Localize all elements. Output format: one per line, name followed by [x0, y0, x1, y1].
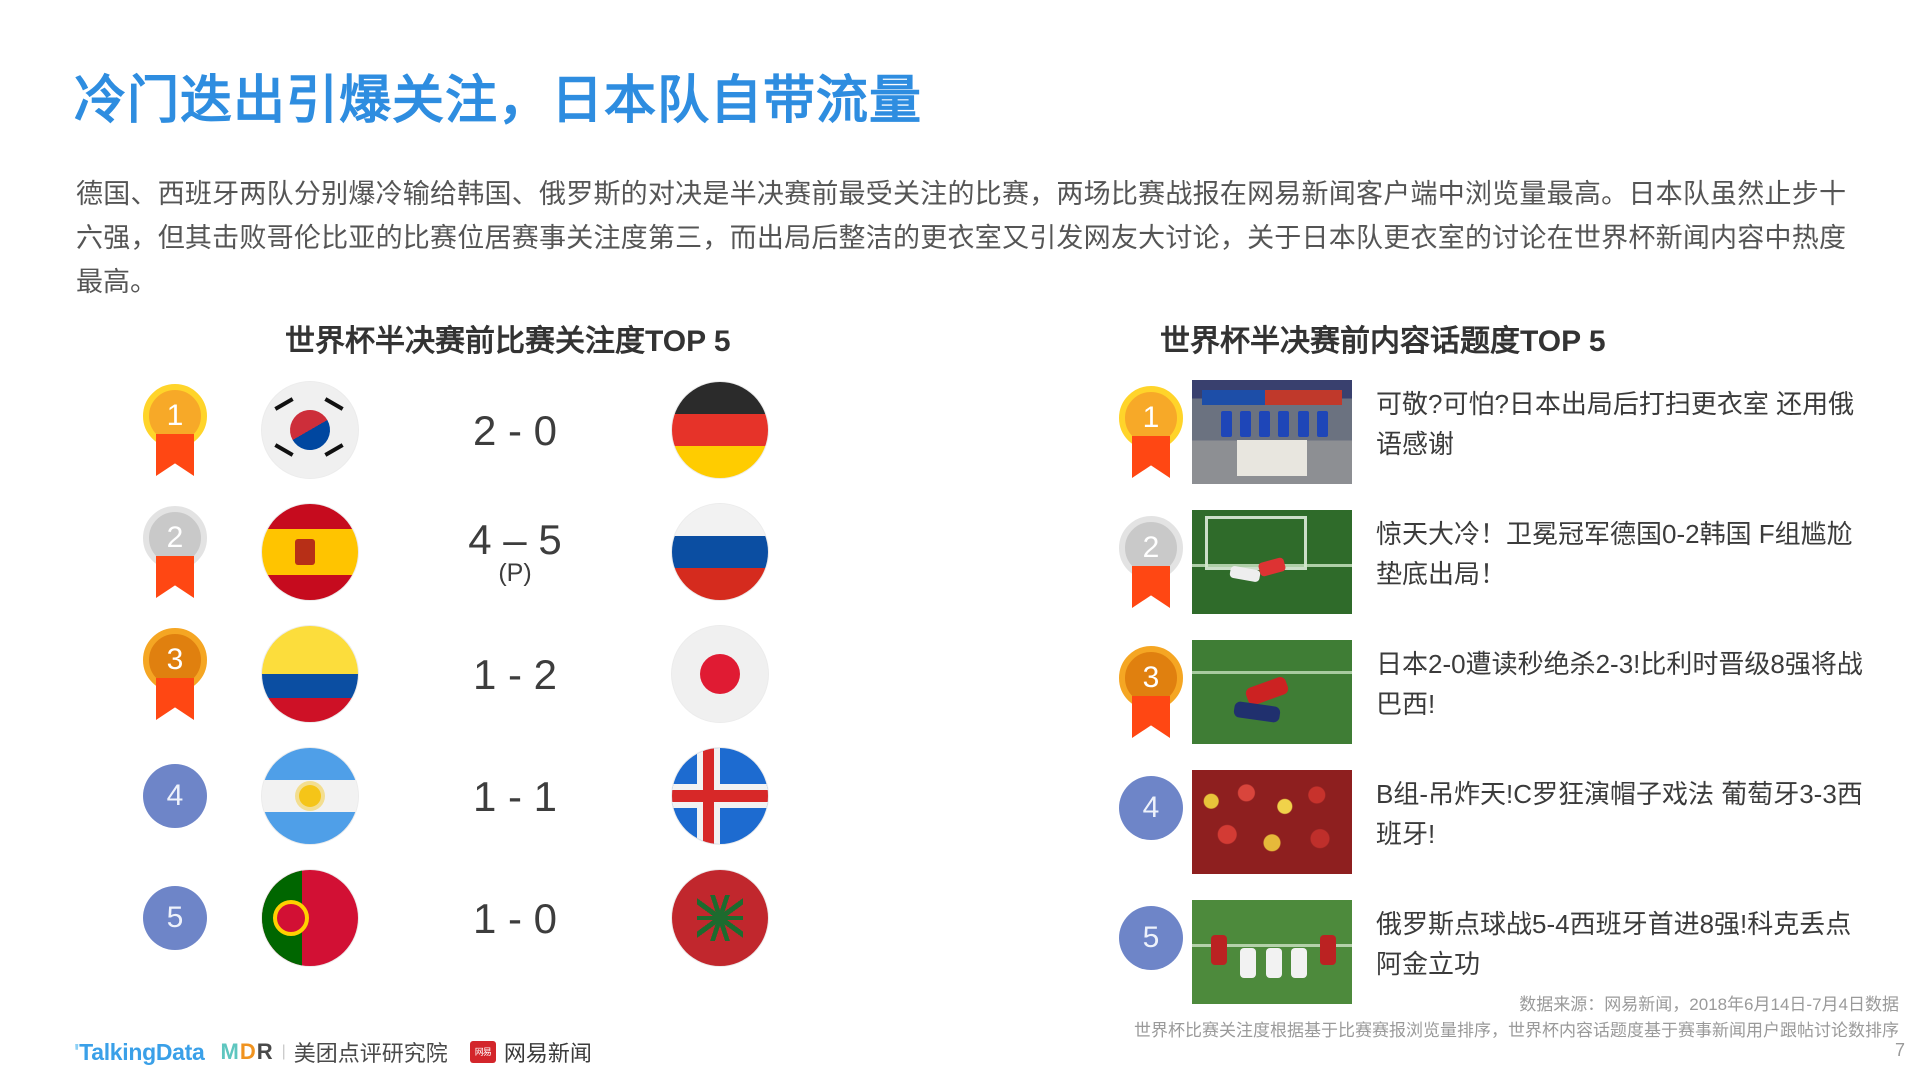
table-row: 2 4 – 5 (P): [120, 502, 920, 602]
logo-mdr: MDR: [221, 1039, 274, 1065]
news-ranking-list: 1 可敬?可怕?日本出局后打扫更衣室 还用俄语感谢 2: [1110, 380, 1900, 1030]
thumbnail-penalty: [1192, 900, 1352, 1004]
netease-mark-icon: 网易: [470, 1041, 496, 1063]
home-flag-cell: [230, 870, 390, 966]
thumbnail-goal-save: [1192, 510, 1352, 614]
flag-icon-korea: [262, 382, 358, 478]
rank-cell: 1: [120, 384, 230, 476]
rank-badge-plain: 4: [1119, 776, 1183, 840]
score-value: 1 - 2: [473, 651, 557, 698]
summary-paragraph: 德国、西班牙两队分别爆冷输给韩国、俄罗斯的对决是半决赛前最受关注的比赛，两场比赛…: [76, 172, 1846, 304]
score-value: 2 - 0: [473, 407, 557, 454]
away-flag-cell: [640, 504, 800, 600]
rank-cell: 2: [1110, 510, 1192, 608]
away-flag-cell: [640, 748, 800, 844]
table-row: 4 1 - 1: [120, 746, 920, 846]
rank-cell: 5: [120, 886, 230, 950]
ribbon-icon: [1132, 696, 1170, 738]
page-number: 7: [1895, 1040, 1905, 1061]
rank-cell: 4: [120, 764, 230, 828]
left-panel-heading: 世界杯半决赛前比赛关注度TOP 5: [285, 316, 731, 360]
medal-badge-bronze: 3: [143, 628, 207, 720]
ribbon-icon: [1132, 566, 1170, 608]
footer-logos: 'TalkingData MDR | 美团点评研究院 网易 网易新闻: [74, 1036, 592, 1068]
medal-badge-silver: 2: [1119, 516, 1183, 608]
right-panel-heading: 世界杯半决赛前内容话题度TOP 5: [1160, 316, 1606, 360]
news-title: 俄罗斯点球战5-4西班牙首进8强!科克丢点阿金立功: [1376, 900, 1876, 984]
logo-talkingdata: 'TalkingData: [74, 1039, 205, 1066]
flag-icon-colombia: [262, 626, 358, 722]
away-flag-cell: [640, 382, 800, 478]
list-item[interactable]: 4 B组-吊炸天!C罗狂演帽子戏法 葡萄牙3-3西班牙!: [1110, 770, 1900, 880]
score-cell: 1 - 2: [390, 653, 640, 695]
score-note: (P): [390, 560, 640, 586]
rank-cell: 3: [120, 628, 230, 720]
rank-badge-plain: 5: [1119, 906, 1183, 970]
rank-badge-plain: 4: [143, 764, 207, 828]
news-title: 日本2-0遭读秒绝杀2-3!比利时晋级8强将战巴西!: [1376, 640, 1876, 724]
medal-badge-bronze: 3: [1119, 646, 1183, 738]
home-flag-cell: [230, 382, 390, 478]
medal-badge-silver: 2: [143, 506, 207, 598]
score-value: 4 – 5: [468, 516, 561, 563]
home-flag-cell: [230, 504, 390, 600]
rank-cell: 4: [1110, 770, 1192, 840]
away-flag-cell: [640, 626, 800, 722]
table-row: 1 2 - 0: [120, 380, 920, 480]
rank-cell: 3: [1110, 640, 1192, 738]
medal-badge-gold: 1: [143, 384, 207, 476]
logo-netease: 网易 网易新闻: [470, 1036, 592, 1068]
flag-icon-morocco: [672, 870, 768, 966]
flag-icon-japan: [672, 626, 768, 722]
news-title: 惊天大冷！卫冕冠军德国0-2韩国 F组尴尬垫底出局！: [1376, 510, 1876, 594]
match-ranking-list: 1 2 - 0: [120, 380, 920, 990]
rank-cell: 5: [1110, 900, 1192, 970]
rank-cell: 1: [1110, 380, 1192, 478]
flag-icon-germany: [672, 382, 768, 478]
slide: 冷门迭出引爆关注，日本队自带流量 德国、西班牙两队分别爆冷输给韩国、俄罗斯的对决…: [0, 0, 1921, 1080]
score-value: 1 - 1: [473, 773, 557, 820]
score-cell: 4 – 5 (P): [390, 518, 640, 586]
home-flag-cell: [230, 748, 390, 844]
score-cell: 1 - 0: [390, 897, 640, 939]
ribbon-icon: [156, 556, 194, 598]
table-row: 5 1 - 0: [120, 868, 920, 968]
table-row: 3 1 - 2: [120, 624, 920, 724]
page-title: 冷门迭出引爆关注，日本队自带流量: [74, 58, 922, 133]
score-cell: 2 - 0: [390, 409, 640, 451]
medal-badge-gold: 1: [1119, 386, 1183, 478]
ribbon-icon: [1132, 436, 1170, 478]
logo-divider: |: [282, 1043, 286, 1061]
list-item[interactable]: 2 惊天大冷！卫冕冠军德国0-2韩国 F组尴尬垫底出局！: [1110, 510, 1900, 620]
score-cell: 1 - 1: [390, 775, 640, 817]
thumbnail-locker-room: [1192, 380, 1352, 484]
list-item[interactable]: 1 可敬?可怕?日本出局后打扫更衣室 还用俄语感谢: [1110, 380, 1900, 490]
thumbnail-tackle: [1192, 640, 1352, 744]
source-line-1: 数据来源：网易新闻，2018年6月14日-7月4日数据: [1134, 992, 1899, 1018]
list-item[interactable]: 3 日本2-0遭读秒绝杀2-3!比利时晋级8强将战巴西!: [1110, 640, 1900, 750]
flag-icon-iceland: [672, 748, 768, 844]
away-flag-cell: [640, 870, 800, 966]
rank-cell: 2: [120, 506, 230, 598]
flag-icon-russia: [672, 504, 768, 600]
source-line-2: 世界杯比赛关注度根据基于比赛赛报浏览量排序，世界杯内容话题度基于赛事新闻用户跟帖…: [1134, 1018, 1899, 1044]
news-title: B组-吊炸天!C罗狂演帽子戏法 葡萄牙3-3西班牙!: [1376, 770, 1876, 854]
score-value: 1 - 0: [473, 895, 557, 942]
ribbon-icon: [156, 434, 194, 476]
flag-icon-portugal: [262, 870, 358, 966]
source-note: 数据来源：网易新闻，2018年6月14日-7月4日数据 世界杯比赛关注度根据基于…: [1134, 992, 1899, 1044]
flag-icon-argentina: [262, 748, 358, 844]
news-title: 可敬?可怕?日本出局后打扫更衣室 还用俄语感谢: [1376, 380, 1876, 464]
rank-badge-plain: 5: [143, 886, 207, 950]
ribbon-icon: [156, 678, 194, 720]
logo-meituan-research: 美团点评研究院: [294, 1036, 448, 1068]
netease-label: 网易新闻: [504, 1036, 592, 1068]
thumbnail-crowd: [1192, 770, 1352, 874]
home-flag-cell: [230, 626, 390, 722]
flag-icon-spain: [262, 504, 358, 600]
